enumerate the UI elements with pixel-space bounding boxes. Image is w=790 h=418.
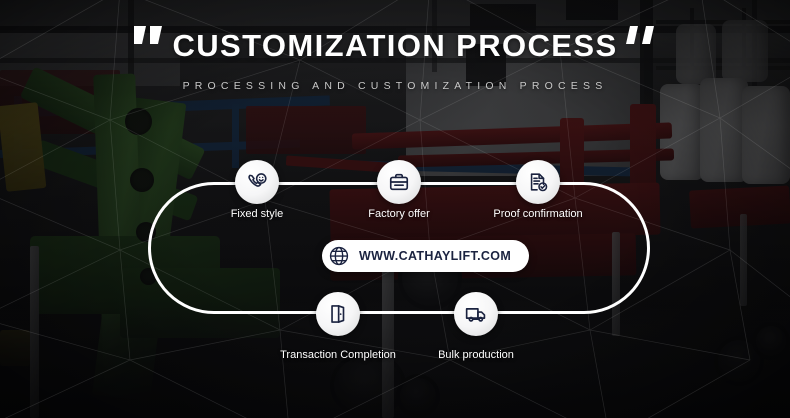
- process-step-label-factory-offer: Factory offer: [368, 208, 430, 220]
- process-step-label-fixed-style: Fixed style: [231, 208, 284, 220]
- website-badge[interactable]: WWW.CATHAYLIFT.COM: [322, 240, 529, 272]
- website-url-label: WWW.CATHAYLIFT.COM: [359, 249, 511, 263]
- process-step-factory-offer[interactable]: [377, 160, 421, 204]
- process-step-fixed-style[interactable]: [235, 160, 279, 204]
- globe-icon: [328, 245, 350, 267]
- process-step-bulk-production[interactable]: [454, 292, 498, 336]
- quote-close-icon: [624, 24, 658, 46]
- banner-content: CUSTOMIZATION PROCESS PROCESSING AND CUS…: [0, 0, 790, 418]
- phone-support-icon: [246, 171, 268, 193]
- process-step-label-transaction-completion: Transaction Completion: [280, 349, 396, 361]
- door-icon: [327, 303, 349, 325]
- process-step-proof-confirmation[interactable]: [516, 160, 560, 204]
- delivery-truck-icon: [465, 303, 487, 325]
- document-check-icon: [527, 171, 549, 193]
- briefcase-icon: [388, 171, 410, 193]
- title-block: CUSTOMIZATION PROCESS: [0, 30, 790, 61]
- quote-open-icon: [132, 24, 166, 46]
- page-title-text: CUSTOMIZATION PROCESS: [172, 28, 617, 63]
- process-step-label-proof-confirmation: Proof confirmation: [493, 208, 582, 220]
- process-step-label-bulk-production: Bulk production: [438, 349, 514, 361]
- banner-stage: CUSTOMIZATION PROCESS PROCESSING AND CUS…: [0, 0, 790, 418]
- page-title: CUSTOMIZATION PROCESS: [172, 30, 617, 61]
- process-step-transaction-completion[interactable]: [316, 292, 360, 336]
- page-subtitle: PROCESSING AND CUSTOMIZATION PROCESS: [0, 80, 790, 92]
